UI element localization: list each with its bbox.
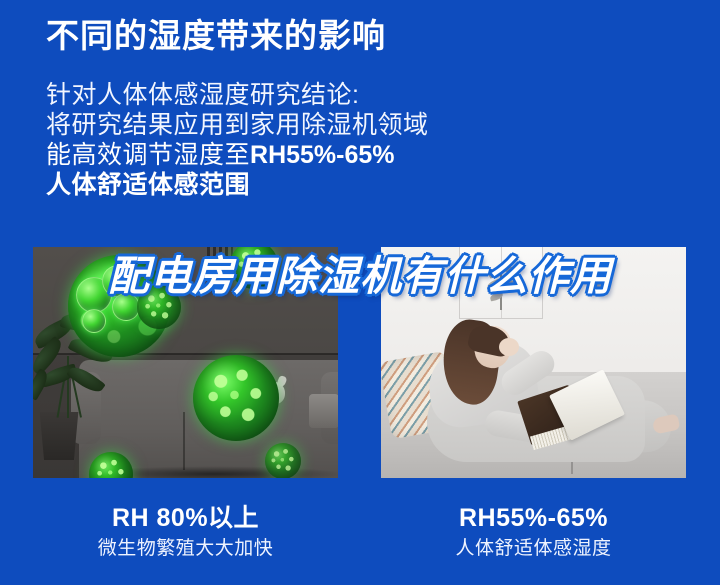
page-title: 不同的湿度带来的影响 (46, 17, 386, 55)
intro-line-3-emphasis: RH55%-65% (250, 141, 395, 169)
germ-sphere-floor-right (265, 443, 301, 478)
intro-line-3-prefix: 能高效调节湿度至 (46, 141, 250, 169)
intro-line-4: 人体舒适体感范围 (46, 170, 606, 200)
caption-left-subtitle: 微生物繁殖大大加快 (33, 537, 338, 561)
person-hand (499, 338, 519, 356)
caption-right-title: RH55%-65% (381, 503, 686, 533)
wall-art-frame (459, 247, 543, 319)
left-photo-side-table (309, 394, 338, 428)
intro-line-1: 针对人体体感湿度研究结论: (46, 80, 606, 110)
wall-art-leaf (486, 279, 501, 290)
photo-right-comfort-humidity (381, 247, 686, 478)
caption-left-title: RH 80%以上 (33, 503, 338, 533)
photo-left-high-humidity (33, 247, 338, 478)
germ-bubble (82, 309, 106, 333)
germ-bubble (112, 293, 140, 321)
wall-decor-speaker (586, 261, 612, 295)
left-photo-plant-pot (37, 412, 81, 460)
caption-left: RH 80%以上 微生物繁殖大大加快 (33, 503, 338, 561)
germ-sphere-bottom (193, 355, 279, 441)
wall-art-plant (486, 262, 516, 310)
caption-right: RH55%-65% 人体舒适体感湿度 (381, 503, 686, 561)
intro-text-block: 针对人体体感湿度研究结论: 将研究结果应用到家用除湿机领域 能高效调节湿度至RH… (46, 80, 606, 200)
caption-right-subtitle: 人体舒适体感湿度 (381, 537, 686, 561)
germ-sphere-medium (137, 285, 181, 329)
intro-line-3: 能高效调节湿度至RH55%-65% (46, 140, 606, 170)
poster-root: 不同的湿度带来的影响 针对人体体感湿度研究结论: 将研究结果应用到家用除湿机领域… (0, 0, 720, 585)
left-photo-ceiling-vent (207, 247, 233, 263)
left-photo-cushion-seam (183, 412, 185, 470)
intro-line-2: 将研究结果应用到家用除湿机领域 (46, 110, 606, 140)
germ-bubble (102, 265, 134, 297)
wall-art-leaf (489, 292, 503, 302)
